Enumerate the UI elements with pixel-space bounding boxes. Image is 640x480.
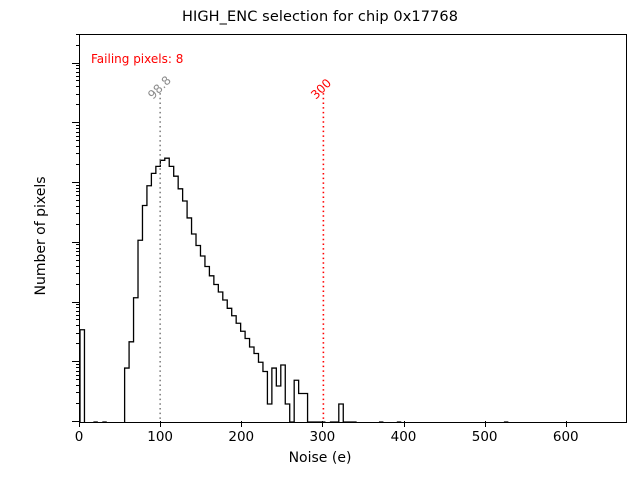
y-tick-minor	[76, 273, 80, 274]
y-tick-minor	[76, 153, 80, 154]
y-tick-minor	[76, 367, 80, 368]
y-tick-minor	[76, 164, 80, 165]
y-tick-minor	[76, 76, 80, 77]
chart-title: HIGH_ENC selection for chip 0x17768	[0, 9, 640, 25]
y-tick-minor	[76, 128, 80, 129]
y-tick-minor	[76, 403, 80, 404]
histogram-step-line	[80, 158, 508, 422]
y-tick-minor	[76, 72, 80, 73]
y-tick-major	[72, 63, 79, 64]
y-tick-minor	[76, 244, 80, 245]
x-axis-label: Noise (e)	[0, 450, 640, 466]
y-tick-minor	[76, 325, 80, 326]
y-tick-minor	[76, 104, 80, 105]
y-tick-minor	[76, 248, 80, 249]
y-tick-major	[72, 361, 79, 362]
y-axis-label: Number of pixels	[33, 91, 49, 381]
y-tick-minor	[76, 375, 80, 376]
y-tick-major	[72, 242, 79, 243]
y-tick-minor	[76, 311, 80, 312]
y-tick-minor	[76, 65, 80, 66]
y-tick-minor	[76, 266, 80, 267]
y-tick-minor	[76, 260, 80, 261]
y-tick-minor	[76, 94, 80, 95]
y-tick-minor	[76, 333, 80, 334]
y-tick-minor	[76, 195, 80, 196]
y-tick-major	[72, 302, 79, 303]
x-tick-label: 400	[391, 429, 417, 445]
x-tick-label: 100	[147, 429, 173, 445]
y-tick-minor	[76, 136, 80, 137]
x-tick-label: 300	[309, 429, 335, 445]
y-tick-minor	[76, 200, 80, 201]
y-tick-minor	[76, 392, 80, 393]
y-tick-minor	[76, 255, 80, 256]
vertical-reference-lines	[160, 93, 323, 422]
y-tick-minor	[76, 251, 80, 252]
y-tick-minor	[76, 86, 80, 87]
y-tick-minor	[76, 304, 80, 305]
histogram-outline	[80, 158, 508, 422]
y-tick-minor	[76, 371, 80, 372]
y-tick-minor	[76, 213, 80, 214]
y-tick-minor	[76, 364, 80, 365]
y-tick-major	[72, 182, 79, 183]
y-tick-minor	[76, 68, 80, 69]
y-tick-minor	[76, 34, 80, 35]
x-tick-major	[404, 421, 405, 427]
y-tick-minor	[76, 343, 80, 344]
y-tick-minor	[76, 188, 80, 189]
y-tick-minor	[76, 191, 80, 192]
y-tick-minor	[76, 80, 80, 81]
x-tick-label: 500	[472, 429, 498, 445]
x-tick-label: 600	[553, 429, 579, 445]
x-tick-major	[241, 421, 242, 427]
y-tick-minor	[76, 385, 80, 386]
x-tick-major	[79, 421, 80, 427]
y-tick-major	[72, 122, 79, 123]
y-tick-minor	[76, 125, 80, 126]
y-tick-minor	[76, 140, 80, 141]
x-tick-major	[485, 421, 486, 427]
x-tick-label: 200	[228, 429, 254, 445]
x-tick-major	[322, 421, 323, 427]
y-tick-minor	[76, 206, 80, 207]
y-tick-minor	[76, 132, 80, 133]
x-tick-major	[566, 421, 567, 427]
failing-pixels-note: Failing pixels: 8	[91, 52, 183, 66]
y-tick-minor	[76, 307, 80, 308]
x-tick-label: 0	[75, 429, 84, 445]
y-tick-major	[72, 421, 79, 422]
y-tick-minor	[76, 319, 80, 320]
figure-canvas: HIGH_ENC selection for chip 0x17768 Numb…	[0, 0, 640, 480]
y-tick-minor	[76, 284, 80, 285]
y-tick-minor	[76, 45, 80, 46]
y-tick-minor	[76, 146, 80, 147]
x-tick-major	[160, 421, 161, 427]
y-tick-minor	[76, 224, 80, 225]
y-tick-minor	[76, 379, 80, 380]
y-tick-minor	[76, 185, 80, 186]
y-tick-minor	[76, 315, 80, 316]
